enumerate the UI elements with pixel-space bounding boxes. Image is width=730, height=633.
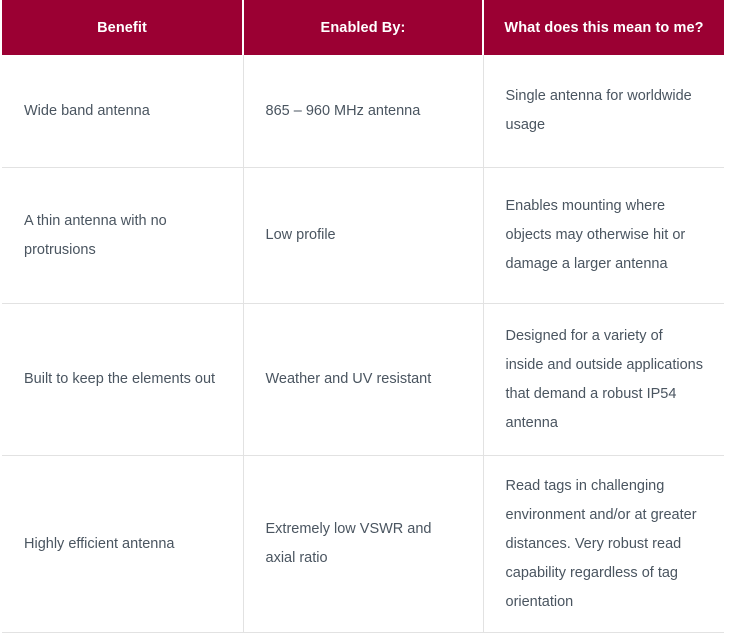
- cell-enabled-by: Extremely low VSWR and axial ratio: [243, 456, 483, 633]
- table-row: Highly efficient antenna Extremely low V…: [2, 456, 724, 633]
- column-header-meaning: What does this mean to me?: [483, 0, 724, 55]
- table-row: A thin antenna with no protrusions Low p…: [2, 168, 724, 304]
- cell-benefit: Highly efficient antenna: [2, 456, 243, 633]
- cell-benefit: A thin antenna with no protrusions: [2, 168, 243, 304]
- cell-meaning: Single antenna for worldwide usage: [483, 55, 724, 168]
- cell-meaning: Designed for a variety of inside and out…: [483, 304, 724, 456]
- cell-meaning: Enables mounting where objects may other…: [483, 168, 724, 304]
- table-row: Wide band antenna 865 – 960 MHz antenna …: [2, 55, 724, 168]
- cell-enabled-by: 865 – 960 MHz antenna: [243, 55, 483, 168]
- benefit-table: Benefit Enabled By: What does this mean …: [2, 0, 724, 633]
- cell-meaning: Read tags in challenging environment and…: [483, 456, 724, 633]
- benefit-table-container: Benefit Enabled By: What does this mean …: [0, 0, 730, 541]
- table-row: Built to keep the elements out Weather a…: [2, 304, 724, 456]
- column-header-enabled-by: Enabled By:: [243, 0, 483, 55]
- table-header: Benefit Enabled By: What does this mean …: [2, 0, 724, 55]
- cell-enabled-by: Low profile: [243, 168, 483, 304]
- cell-benefit: Wide band antenna: [2, 55, 243, 168]
- table-header-row: Benefit Enabled By: What does this mean …: [2, 0, 724, 55]
- cell-enabled-by: Weather and UV resistant: [243, 304, 483, 456]
- column-header-benefit: Benefit: [2, 0, 243, 55]
- cell-benefit: Built to keep the elements out: [2, 304, 243, 456]
- table-body: Wide band antenna 865 – 960 MHz antenna …: [2, 55, 724, 633]
